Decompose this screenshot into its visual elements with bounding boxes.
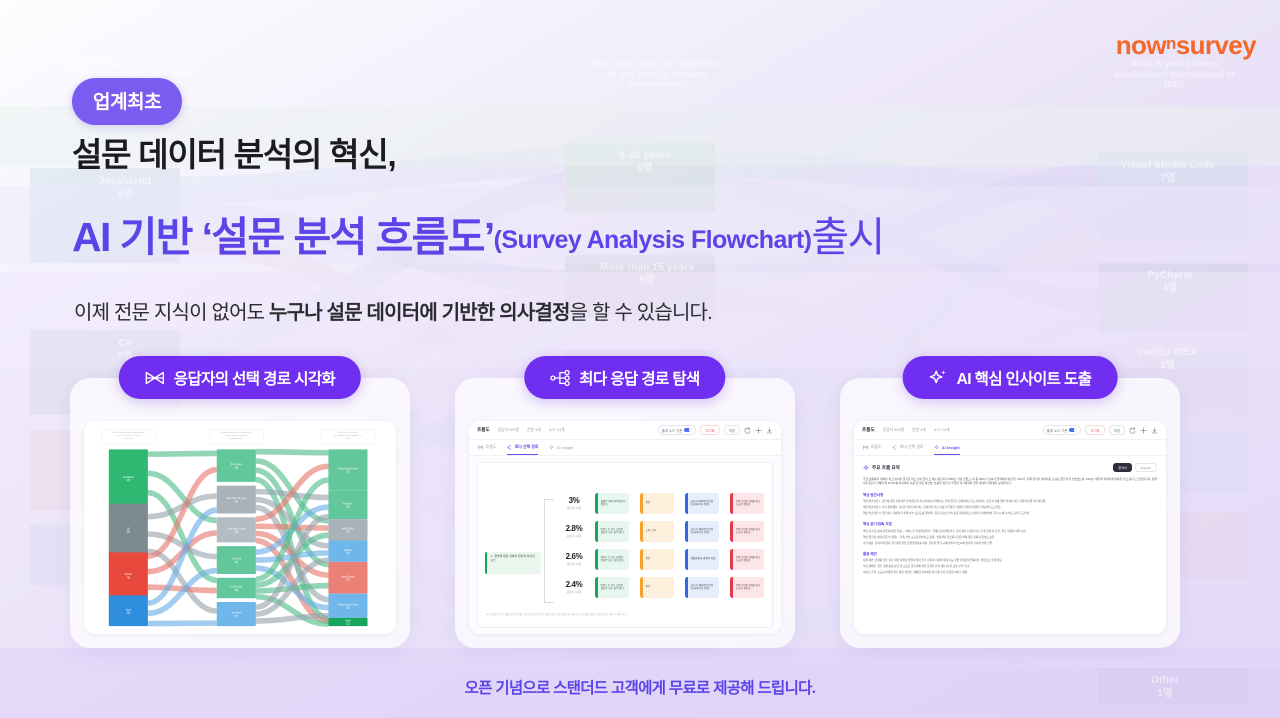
sankey-node-label: More than 15 years bbox=[226, 497, 247, 500]
logo-text-now: now bbox=[1116, 30, 1166, 60]
path-step-label: 아이드는 학교 실직만 결혼은 하고 싶지 않다. bbox=[601, 584, 626, 591]
save-button[interactable]: 저장 bbox=[1109, 425, 1125, 435]
sankey-question-label: Which programming languages do bbox=[112, 431, 145, 434]
path-step-label: 중간 bbox=[646, 557, 651, 560]
sankey-node-label: JavaScript bbox=[123, 476, 134, 479]
tab-label: 흐름도 bbox=[486, 444, 497, 450]
sparkle-icon bbox=[929, 369, 948, 387]
feature-pill-paths: 최다 응답 경로 탐색 bbox=[524, 356, 725, 399]
sankey-node-label: Visual Studio Code bbox=[338, 467, 358, 470]
path-arrow-icon: → bbox=[632, 501, 637, 506]
path-step-label: 소통 노력 bbox=[646, 529, 656, 532]
app-content-paths: 1. 정부에 대한 귀하의 전반적 이미지는? 3%응답자 14명설명은 어려 … bbox=[469, 456, 781, 634]
tab-flow[interactable]: 흐름도 bbox=[478, 440, 496, 455]
path-step[interactable]: 가족·친지간 (친밀하는) 소규모 결혼식 bbox=[730, 521, 764, 542]
screenshot-sankey[interactable]: JavaScript9명C#8명Python7명Java5명6-10 years… bbox=[84, 421, 396, 634]
sankey-node-label: 1-3 years bbox=[231, 559, 241, 561]
insight-header: 주요 흐름 요약 한국어 English bbox=[863, 463, 1157, 472]
path-percentage: 3% bbox=[556, 496, 592, 505]
subheadline-post: 을 할 수 있습니다. bbox=[570, 302, 712, 324]
screenshot-paths[interactable]: 흐름도 응답자 500명 문항 4개 노드 14개 통계 노드 기준 초기화 저… bbox=[469, 421, 781, 634]
tab-label: 흐름도 bbox=[871, 444, 882, 450]
path-percentage-block: 2.8%응답자 14명 bbox=[556, 524, 592, 538]
sparkle-icon bbox=[863, 465, 869, 471]
path-percentage-block: 2.6%응답자 13명 bbox=[556, 552, 592, 566]
footer-note: 오픈 기념으로 스탠더드 고객에게 무료로 제공해 드립니다. bbox=[0, 676, 1280, 698]
reset-button[interactable]: 초기화 bbox=[1085, 425, 1104, 435]
path-step-label: 가족·친지간 (친밀하는) 소규모 결혼식 bbox=[736, 528, 761, 535]
path-step[interactable]: 아이드는 학교 실직만 결혼은 하고 싶지 않다. bbox=[595, 577, 629, 598]
insight-section-line: 핵심 발견사항 3: 결혼식은 ‘대하기가 작게 비수 소규모를 압박력’, 결… bbox=[863, 512, 1157, 516]
sankey-node-label: 11-15 years bbox=[230, 587, 243, 589]
sankey-node-label: PyCharm bbox=[343, 503, 353, 505]
path-arrow-icon: → bbox=[677, 557, 682, 562]
path-step-label: 가족·친지간 (친밀하는) 소규모 결혼식 bbox=[736, 556, 761, 563]
path-step[interactable]: 아이드는 학교 실직만 결혼은 하고 싶지 않다. bbox=[595, 521, 629, 542]
app-meta-questions: 문항 4개 bbox=[527, 428, 541, 433]
insight-section-line: 핵심 발견사항 2: 가사·양육에서 ‘남녀가 적어 같이’라는 인식형의 분담… bbox=[863, 506, 1157, 510]
path-step[interactable]: 생활환경과 경제적 지원 bbox=[685, 549, 719, 570]
path-step-accent bbox=[685, 493, 688, 514]
app-meta-respondents: 응답자 500명 bbox=[883, 428, 904, 433]
path-footnote: ※ 1) 설문의 각 단계별 선택 경로를 기준으로 상위 응답 비율이 높은 … bbox=[486, 612, 627, 616]
sankey-node-label: 3-5 years bbox=[231, 613, 241, 615]
path-row[interactable]: 2.6%응답자 13명아이드는 학교 실직만 결혼은 하고 싶지 않다.→중간→… bbox=[556, 547, 764, 571]
path-step-accent bbox=[595, 521, 598, 542]
path-step-label: 생활환경과 경제적 지원 bbox=[691, 557, 716, 560]
path-step-accent bbox=[685, 549, 688, 570]
feature-card-insight: AI 핵심 인사이트 도출 흐름도 응답자 500명 문항 4개 노드 14개 … bbox=[840, 378, 1180, 648]
sankey-question-label: frequently? bbox=[123, 437, 134, 440]
path-step-label: 남녀가 협력하여 분담 (남녀차이가 적음) bbox=[691, 500, 716, 507]
brand-logo[interactable]: nownsurvey bbox=[1116, 30, 1256, 61]
tab-label: AI Insight bbox=[557, 445, 573, 450]
path-step-accent bbox=[730, 577, 733, 598]
stat-node-toggle[interactable]: 통계 노드 기준 bbox=[658, 425, 697, 435]
feature-pill-sankey: 응답자의 선택 경로 시각화 bbox=[119, 356, 361, 399]
path-arrow-icon: → bbox=[632, 585, 637, 590]
path-step[interactable]: 소통 노력 bbox=[640, 521, 674, 542]
sankey-question-label: development environment or bbox=[334, 434, 361, 437]
headline-english: (Survey Analysis Flowchart) bbox=[494, 226, 812, 254]
insight-section-line: 추가 예상: 심리/가사양육·결혼형태 결합 분양경향자를 과정, 전통적 역할… bbox=[863, 542, 1157, 546]
path-step-accent bbox=[730, 493, 733, 514]
app-tabbar: 흐름도 최다 선택 경로 AI Insight bbox=[854, 440, 1166, 456]
download-icon[interactable] bbox=[766, 427, 773, 434]
sankey-node-label: Eclipse bbox=[344, 550, 352, 552]
path-step-label: 가족·친지간 (친밀하는) 소규모 결혼식 bbox=[736, 584, 761, 591]
sankey-node-label: Visual Studio Code bbox=[338, 603, 358, 606]
sparkle-icon bbox=[549, 445, 554, 450]
plus-icon[interactable] bbox=[755, 427, 762, 434]
insight-section-line: 정책 제안: 형성률 결혼·출산 지원 정책들 실업자 참여 주거 지원과 더불… bbox=[863, 559, 1157, 563]
path-arrow-icon: → bbox=[722, 529, 727, 534]
sankey-question-label: development? bbox=[230, 437, 244, 440]
app-meta-nodes: 노드 14개 bbox=[549, 428, 565, 433]
poster-canvas: Which programming languages do you use d… bbox=[0, 0, 1280, 718]
tab-label: 최다 선택 경로 bbox=[515, 444, 539, 450]
badge-label: 업계최초 bbox=[93, 92, 161, 113]
path-arrow-icon: → bbox=[722, 557, 727, 562]
path-arrow-icon: → bbox=[632, 557, 637, 562]
feature-pill-label: 응답자의 선택 경로 시각화 bbox=[174, 367, 335, 389]
path-step[interactable]: 중간 bbox=[640, 577, 674, 598]
path-respondent-count: 응답자 14명 bbox=[556, 506, 592, 510]
app-title: 흐름도 bbox=[862, 427, 875, 433]
path-arrow-icon: → bbox=[722, 501, 727, 506]
path-step[interactable]: 가족·친지간 (친밀하는) 소규모 결혼식 bbox=[730, 493, 764, 514]
tab-label: 최다 선택 경로 bbox=[900, 444, 924, 450]
path-step-accent bbox=[595, 493, 598, 514]
path-step-label: 중간 bbox=[646, 585, 651, 588]
path-percentage-block: 2.4%응답자 12명 bbox=[556, 580, 592, 594]
sankey-link bbox=[148, 453, 217, 454]
path-arrow-icon: → bbox=[677, 529, 682, 534]
path-arrow-icon: → bbox=[677, 501, 682, 506]
tab-ai-insight[interactable]: AI Insight bbox=[934, 440, 959, 455]
path-respondent-count: 응답자 13명 bbox=[556, 562, 592, 566]
flow-icon bbox=[863, 445, 868, 450]
path-step[interactable]: 남녀가 협력하여 분담 (남녀차이가 적음) bbox=[685, 521, 719, 542]
path-step[interactable]: 중간 bbox=[640, 493, 674, 514]
feature-card-sankey: 응답자의 선택 경로 시각화 JavaScript9명C#8명Python7명J… bbox=[70, 378, 410, 648]
insight-section-line: 핵심 분기점 (심리/결혼에 대한 인상) · ‘아이는만 전통입장이나’, ‘… bbox=[863, 530, 1157, 534]
path-step-accent bbox=[685, 577, 688, 598]
path-step-label: 중간 bbox=[646, 501, 651, 504]
subheadline-pre: 이제 전문 지식이 없어도 bbox=[74, 302, 269, 324]
path-arrow-icon: → bbox=[722, 585, 727, 590]
sankey-link bbox=[256, 452, 329, 453]
refresh-icon[interactable] bbox=[1129, 427, 1136, 434]
headline-line-1: 설문 데이터 분석의 혁신, bbox=[72, 128, 395, 176]
sankey-question-label: IDE? bbox=[346, 438, 352, 440]
sankey-node-label: Python bbox=[125, 573, 133, 576]
insight-section-line: 핵심 발견사항 1: 결혼에 대한 전통적인 인식(결혼식 과시/비용)이 약화… bbox=[863, 500, 1157, 504]
feature-pill-label: 최다 응답 경로 탐색 bbox=[579, 367, 699, 389]
headline-tail: 출시 bbox=[811, 214, 883, 260]
path-root-node: 1. 정부에 대한 귀하의 전반적 이미지는? bbox=[485, 552, 541, 574]
path-arrow-icon: → bbox=[677, 585, 682, 590]
path-panel: 1. 정부에 대한 귀하의 전반적 이미지는? 3%응답자 14명설명은 어려 … bbox=[477, 462, 773, 628]
logo-text-survey: survey bbox=[1176, 30, 1256, 60]
tab-top-paths[interactable]: 최다 선택 경로 bbox=[507, 440, 538, 455]
path-respondent-count: 응답자 14명 bbox=[556, 534, 592, 538]
sankey-node-label: 6-10 years bbox=[231, 464, 243, 466]
sankey-node-label: Java bbox=[126, 609, 132, 611]
path-step-label: 가족·친지간 (친밀하는) 소규모 결혼식 bbox=[736, 500, 761, 507]
reset-button[interactable]: 초기화 bbox=[700, 425, 719, 435]
headline-korean: AI 기반 ‘설문 분석 흐름도’ bbox=[72, 214, 494, 260]
path-row[interactable]: 2.8%응답자 14명아이드는 학교 실직만 결혼은 하고 싶지 않다.→소통 … bbox=[556, 519, 764, 543]
path-step-accent bbox=[730, 521, 733, 542]
insight-panel: 주요 흐름 요약 한국어 English 주요 흐름에서 ‘예의는 하고 싶지만… bbox=[854, 456, 1166, 634]
path-respondent-count: 응답자 12명 bbox=[556, 590, 592, 594]
path-icon bbox=[892, 445, 897, 450]
plus-icon[interactable] bbox=[1140, 427, 1147, 434]
feature-card-paths: 최다 응답 경로 탐색 흐름도 응답자 500명 문항 4개 노드 14개 통계… bbox=[455, 378, 795, 648]
toggle-label: 통계 노드 기준 bbox=[1047, 428, 1068, 433]
path-step-accent bbox=[640, 493, 643, 514]
screenshot-insight[interactable]: 흐름도 응답자 500명 문항 4개 노드 14개 통계 노드 기준 초기화 저… bbox=[854, 421, 1166, 634]
insight-section-heading: 활용 제안 bbox=[863, 552, 1157, 557]
sankey-node-label: Other bbox=[345, 620, 351, 623]
app-meta-nodes: 노드 14개 bbox=[934, 428, 950, 433]
sankey-node-label: Less than 1 year bbox=[228, 527, 245, 530]
subheadline: 이제 전문 지식이 없어도 누구나 설문 데이터에 기반한 의사결정을 할 수 … bbox=[74, 296, 712, 325]
insight-section-line: 서비스 기획: 소규모/비대면 결혼 중심 컨텐츠, 성평형 자녀계획 상담 등… bbox=[863, 571, 1157, 575]
app-toolbar: 흐름도 응답자 500명 문항 4개 노드 14개 통계 노드 기준 초기화 저… bbox=[854, 421, 1166, 440]
path-step[interactable]: 설명은 어려 움직임보다 정확다 bbox=[595, 493, 629, 514]
insight-title: 주요 흐름 요약 bbox=[872, 465, 900, 471]
sankey-question-label: do you have in software bbox=[225, 434, 248, 437]
insight-section-heading: 핵심 분기/접촉 지점 bbox=[863, 522, 1157, 527]
path-step[interactable]: 남녀가 협력하여 분담 (남녀차이가 적음) bbox=[685, 577, 719, 598]
path-arrow-icon: → bbox=[632, 529, 637, 534]
feature-pill-insight: AI 핵심 인사이트 도출 bbox=[903, 356, 1118, 399]
insight-section-heading: 핵심 발견사항 bbox=[863, 493, 1157, 498]
refresh-icon[interactable] bbox=[744, 427, 751, 434]
path-step[interactable]: 가족·친지간 (친밀하는) 소규모 결혼식 bbox=[730, 549, 764, 570]
logo-text-n: n bbox=[1166, 34, 1176, 53]
path-step-accent bbox=[640, 577, 643, 598]
insight-summary: 주요 흐름에서 ‘예의는 하고 싶지만 결혼은 하고 싶지 않다’고 하는 응답… bbox=[863, 478, 1157, 487]
sankey-bowtie-icon bbox=[145, 371, 165, 385]
path-percentage-block: 3%응답자 14명 bbox=[556, 496, 592, 510]
tab-flow[interactable]: 흐름도 bbox=[863, 440, 881, 455]
sankey-svg: JavaScript9명C#8명Python7명Java5명6-10 years… bbox=[91, 427, 389, 628]
save-button[interactable]: 저장 bbox=[724, 425, 740, 435]
sankey-node-label: Visual Studio bbox=[341, 575, 355, 578]
lang-korean-button[interactable]: 한국어 bbox=[1113, 463, 1132, 472]
node-tree-icon bbox=[550, 370, 570, 386]
sankey-question-label: How many years of experience bbox=[222, 431, 252, 434]
feature-pill-label: AI 핵심 인사이트 도출 bbox=[957, 367, 1092, 389]
subheadline-emphasis: 누구나 설문 데이터에 기반한 의사결정 bbox=[269, 302, 570, 324]
insight-section-line: 핵심 접촉점 (심리/결혼식 형태) · ‘가족 간이 소규모/친하신로 불림’… bbox=[863, 536, 1157, 540]
tab-ai-insight[interactable]: AI Insight bbox=[549, 440, 573, 455]
path-percentage: 2.6% bbox=[556, 552, 592, 561]
path-step-accent bbox=[595, 549, 598, 570]
sankey-question-label: What is your primary bbox=[338, 431, 358, 434]
path-icon bbox=[507, 445, 512, 450]
path-step-label: 아이드는 학교 실직만 결혼은 하고 싶지 않다. bbox=[601, 556, 626, 563]
path-percentage: 2.8% bbox=[556, 524, 592, 533]
lang-english-button[interactable]: English bbox=[1135, 463, 1157, 472]
flow-icon bbox=[478, 445, 483, 450]
first-in-industry-badge: 업계최초 bbox=[72, 78, 182, 125]
toggle-switch-icon[interactable] bbox=[1069, 428, 1077, 433]
path-step[interactable]: 가족·친지간 (친밀하는) 소규모 결혼식 bbox=[730, 577, 764, 598]
sankey-question-label: you use daily, and need bbox=[117, 435, 140, 437]
path-row[interactable]: 3%응답자 14명설명은 어려 움직임보다 정확다→중간→남녀가 협력하여 분담… bbox=[556, 491, 764, 515]
path-step-label: 남녀가 협력하여 분담 (남녀차이가 적음) bbox=[691, 528, 716, 535]
path-step-accent bbox=[685, 521, 688, 542]
tab-label: AI Insight bbox=[942, 445, 960, 450]
download-icon[interactable] bbox=[1151, 427, 1158, 434]
sankey-diagram: JavaScript9명C#8명Python7명Java5명6-10 years… bbox=[84, 421, 396, 634]
insight-section-line: 사회 캠페인: 결혼 경제 활동/상당 및 소규모 결혼식에 대한 긍정적 인식… bbox=[863, 565, 1157, 569]
path-percentage: 2.4% bbox=[556, 580, 592, 589]
app-tabbar: 흐름도 최다 선택 경로 AI Insight bbox=[469, 440, 781, 456]
sankey-node-label: IntelliJ IDEA bbox=[342, 527, 355, 530]
app-title: 흐름도 bbox=[477, 427, 490, 433]
sparkle-icon bbox=[934, 445, 939, 450]
path-step-accent bbox=[640, 549, 643, 570]
toggle-switch-icon[interactable] bbox=[684, 428, 692, 433]
path-step[interactable]: 아이드는 학교 실직만 결혼은 하고 싶지 않다. bbox=[595, 549, 629, 570]
insight-section-list: 핵심 발견사항핵심 발견사항 1: 결혼에 대한 전통적인 인식(결혼식 과시/… bbox=[863, 493, 1157, 576]
tab-top-paths[interactable]: 최다 선택 경로 bbox=[892, 440, 923, 455]
path-step[interactable]: 남녀가 협력하여 분담 (남녀차이가 적음) bbox=[685, 493, 719, 514]
stat-node-toggle[interactable]: 통계 노드 기준 bbox=[1043, 425, 1082, 435]
path-step-accent bbox=[730, 549, 733, 570]
app-meta-questions: 문항 4개 bbox=[912, 428, 926, 433]
app-content-insight: 주요 흐름 요약 한국어 English 주요 흐름에서 ‘예의는 하고 싶지만… bbox=[854, 456, 1166, 634]
path-step-label: 설명은 어려 움직임보다 정확다 bbox=[601, 500, 626, 507]
toggle-label: 통계 노드 기준 bbox=[662, 428, 683, 433]
headline-line-2: AI 기반 ‘설문 분석 흐름도’(Survey Analysis Flowch… bbox=[72, 203, 884, 263]
app-meta-respondents: 응답자 500명 bbox=[498, 428, 519, 433]
path-step-label: 남녀가 협력하여 분담 (남녀차이가 적음) bbox=[691, 584, 716, 591]
path-step-accent bbox=[595, 577, 598, 598]
path-step-label: 아이드는 학교 실직만 결혼은 하고 싶지 않다. bbox=[601, 528, 626, 535]
path-row[interactable]: 2.4%응답자 12명아이드는 학교 실직만 결혼은 하고 싶지 않다.→중간→… bbox=[556, 575, 764, 599]
path-step-accent bbox=[640, 521, 643, 542]
path-step[interactable]: 중간 bbox=[640, 549, 674, 570]
path-tree-connector bbox=[544, 499, 554, 603]
app-toolbar: 흐름도 응답자 500명 문항 4개 노드 14개 통계 노드 기준 초기화 저… bbox=[469, 421, 781, 440]
